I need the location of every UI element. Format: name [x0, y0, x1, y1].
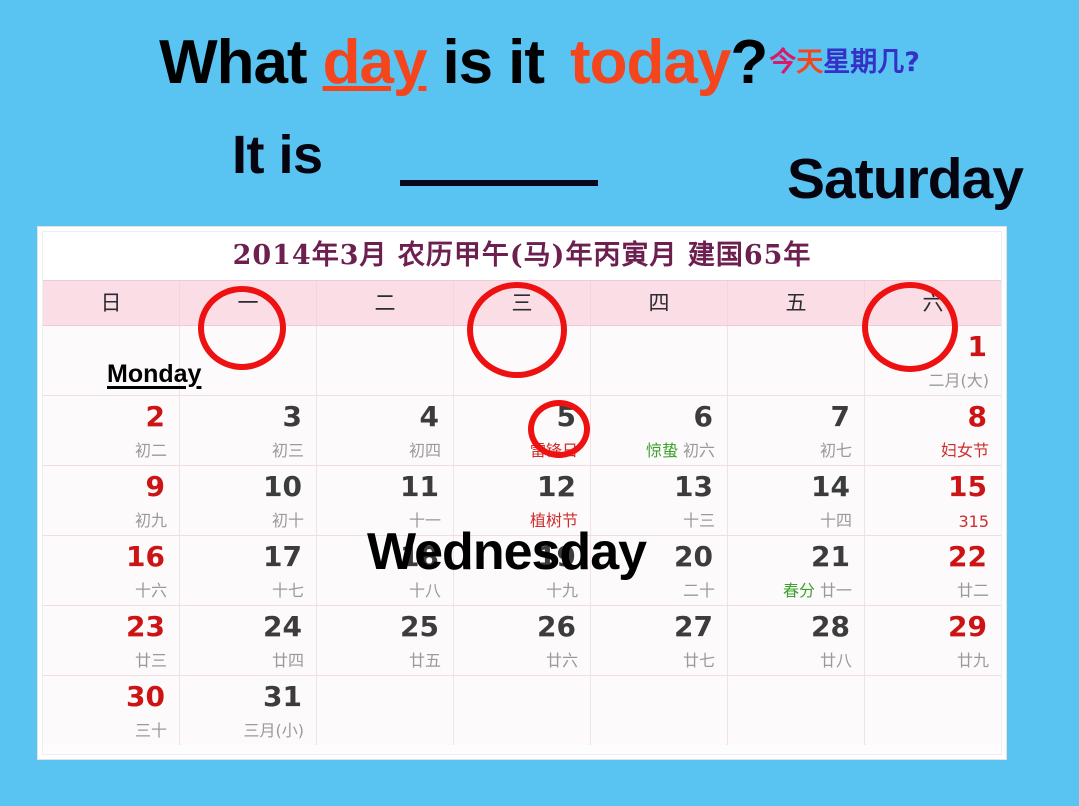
day-number: 16 [126, 540, 165, 573]
day-number: 6 [694, 400, 713, 433]
day-number: 10 [263, 470, 302, 503]
question-heading: Whatdayisittoday?今天星期几? [0, 32, 1079, 94]
annotation-label-monday: Monday [107, 360, 201, 389]
day-lunar-label: 初二 [135, 437, 167, 461]
calendar-day-15[interactable]: 15315 [865, 466, 1001, 535]
calendar-day-empty [317, 676, 454, 745]
day-number: 26 [537, 610, 576, 643]
day-lunar-label: 初七 [820, 437, 852, 461]
calendar-day-5[interactable]: 5雷锋日 [454, 396, 591, 465]
calendar-day-26[interactable]: 26廿六 [454, 606, 591, 675]
annotation-label-wednesday: Wednesday [367, 522, 646, 582]
calendar-weekday-6: 六 [865, 281, 1001, 325]
day-number: 14 [811, 470, 850, 503]
day-number: 12 [537, 470, 576, 503]
day-lunar-label: 初十 [272, 507, 304, 531]
day-lunar-label: 惊蛰初六 [646, 437, 715, 461]
calendar-weekday-2: 二 [317, 281, 454, 325]
answer-line: It is Saturday [0, 124, 1079, 206]
day-lunar-label: 315 [958, 512, 989, 531]
calendar-day-22[interactable]: 22廿二 [865, 536, 1001, 605]
calendar-title: 2014年3月 农历甲午(马)年丙寅月 建国65年 [43, 232, 1001, 280]
calendar-day-7[interactable]: 7初七 [728, 396, 865, 465]
title-word-is: is [442, 28, 492, 97]
calendar-day-6[interactable]: 6惊蛰初六 [591, 396, 728, 465]
day-lunar-label: 十三 [683, 507, 715, 531]
title-chinese-translation: 今天星期几? [769, 47, 920, 78]
day-lunar-label: 廿四 [272, 647, 304, 671]
calendar-day-10[interactable]: 10初十 [180, 466, 317, 535]
calendar-day-empty [454, 676, 591, 745]
day-lunar-text: 初六 [683, 441, 715, 460]
day-number: 22 [948, 540, 987, 573]
day-number: 27 [674, 610, 713, 643]
solar-term-label: 惊蛰 [646, 441, 678, 460]
day-number: 5 [557, 400, 576, 433]
day-number: 4 [420, 400, 439, 433]
day-lunar-label: 十七 [272, 577, 304, 601]
day-lunar-label: 初九 [135, 507, 167, 531]
day-lunar-label: 十四 [820, 507, 852, 531]
day-lunar-text: 廿一 [820, 581, 852, 600]
calendar-week-row: 2初二3初三4初四5雷锋日6惊蛰初六7初七8妇女节 [43, 396, 1001, 466]
calendar-day-31[interactable]: 31三月(小) [180, 676, 317, 745]
calendar-day-9[interactable]: 9初九 [43, 466, 180, 535]
day-lunar-label: 初三 [272, 437, 304, 461]
day-number: 2 [146, 400, 165, 433]
day-lunar-label: 二月(大) [929, 367, 990, 391]
calendar-day-21[interactable]: 21春分廿一 [728, 536, 865, 605]
day-number: 31 [263, 680, 302, 713]
calendar-day-empty [591, 326, 728, 395]
day-number: 24 [263, 610, 302, 643]
title-chinese-part2: 天 [796, 47, 823, 78]
calendar-day-4[interactable]: 4初四 [317, 396, 454, 465]
answer-blank-rule [400, 180, 598, 186]
calendar-day-25[interactable]: 25廿五 [317, 606, 454, 675]
calendar-day-empty [591, 676, 728, 745]
day-number: 29 [948, 610, 987, 643]
day-lunar-label: 三十 [135, 717, 167, 741]
calendar-day-2[interactable]: 2初二 [43, 396, 180, 465]
day-number: 15 [948, 470, 987, 503]
day-lunar-label: 三月(小) [244, 717, 305, 741]
calendar-day-empty [317, 326, 454, 395]
answer-prefix: It is [232, 124, 323, 186]
calendar-weekday-4: 四 [591, 281, 728, 325]
calendar-day-empty [728, 676, 865, 745]
calendar-day-17[interactable]: 17十七 [180, 536, 317, 605]
calendar-day-1[interactable]: 1二月(大) [865, 326, 1001, 395]
calendar-weekday-5: 五 [728, 281, 865, 325]
day-lunar-label: 廿六 [546, 647, 578, 671]
calendar-weekday-3: 三 [454, 281, 591, 325]
day-number: 8 [968, 400, 987, 433]
day-lunar-label: 廿八 [820, 647, 852, 671]
day-number: 13 [674, 470, 713, 503]
calendar-image: 2014年3月 农历甲午(马)年丙寅月 建国65年 日一二三四五六 1二月(大)… [37, 226, 1007, 760]
calendar-day-24[interactable]: 24廿四 [180, 606, 317, 675]
day-number: 20 [674, 540, 713, 573]
title-word-it: it [508, 28, 544, 97]
calendar-day-29[interactable]: 29廿九 [865, 606, 1001, 675]
calendar-day-8[interactable]: 8妇女节 [865, 396, 1001, 465]
calendar-day-16[interactable]: 16十六 [43, 536, 180, 605]
day-number: 3 [283, 400, 302, 433]
day-lunar-label: 雷锋日 [530, 437, 578, 461]
calendar-week-row: 30三十31三月(小) [43, 676, 1001, 745]
day-lunar-label: 十六 [135, 577, 167, 601]
day-number: 25 [400, 610, 439, 643]
day-number: 1 [968, 330, 987, 363]
calendar-day-30[interactable]: 30三十 [43, 676, 180, 745]
title-chinese-part3: 星期几? [823, 47, 920, 78]
title-word-what: What [159, 28, 307, 97]
day-lunar-label: 廿七 [683, 647, 715, 671]
day-lunar-label: 初四 [409, 437, 441, 461]
calendar-weekday-1: 一 [180, 281, 317, 325]
calendar-panel: 2014年3月 农历甲午(马)年丙寅月 建国65年 日一二三四五六 1二月(大)… [42, 231, 1002, 755]
calendar-week-row: 23廿三24廿四25廿五26廿六27廿七28廿八29廿九 [43, 606, 1001, 676]
day-lunar-label: 廿二 [957, 577, 989, 601]
day-number: 23 [126, 610, 165, 643]
calendar-day-27[interactable]: 27廿七 [591, 606, 728, 675]
calendar-day-empty [454, 326, 591, 395]
day-number: 7 [831, 400, 850, 433]
day-lunar-label: 妇女节 [941, 437, 989, 461]
calendar-day-empty [728, 326, 865, 395]
calendar-weekday-header: 日一二三四五六 [43, 280, 1001, 326]
title-question-mark: ? [730, 28, 767, 97]
calendar-day-empty [865, 676, 1001, 745]
day-lunar-label: 春分廿一 [783, 577, 852, 601]
day-lunar-label: 廿九 [957, 647, 989, 671]
day-number: 9 [146, 470, 165, 503]
day-number: 30 [126, 680, 165, 713]
calendar-day-14[interactable]: 14十四 [728, 466, 865, 535]
day-lunar-label: 廿三 [135, 647, 167, 671]
calendar-day-23[interactable]: 23廿三 [43, 606, 180, 675]
day-number: 11 [400, 470, 439, 503]
title-word-today: today [570, 28, 730, 97]
day-lunar-label: 二十 [683, 577, 715, 601]
day-number: 28 [811, 610, 850, 643]
title-chinese-part1: 今 [769, 47, 796, 78]
calendar-day-3[interactable]: 3初三 [180, 396, 317, 465]
day-number: 17 [263, 540, 302, 573]
calendar-weekday-0: 日 [43, 281, 180, 325]
title-word-day: day [323, 28, 427, 97]
day-number: 21 [811, 540, 850, 573]
day-lunar-label: 廿五 [409, 647, 441, 671]
answer-value-saturday: Saturday [787, 146, 1023, 212]
solar-term-label: 春分 [783, 581, 815, 600]
calendar-day-28[interactable]: 28廿八 [728, 606, 865, 675]
